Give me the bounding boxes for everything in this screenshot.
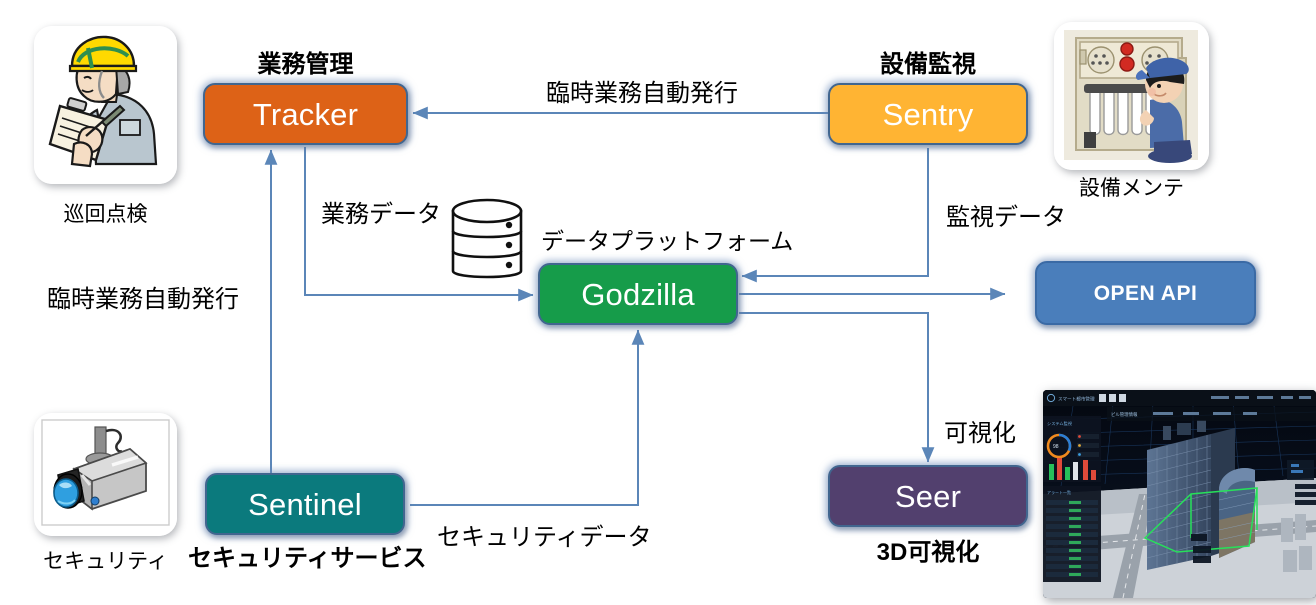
node-label-godzilla: Godzilla [581,279,695,310]
node-caption-sentry: 設備監視 [828,44,1028,79]
node-caption-seer: 3D可視化 [828,532,1028,567]
diagram-canvas: 巡回点検 セキュリティ [0,0,1316,605]
clipart-security-camera [34,413,177,536]
node-tracker[interactable]: Tracker [203,83,408,145]
node-label-sentry: Sentry [883,99,974,130]
node-caption-tracker: 業務管理 [203,44,408,79]
node-seer[interactable]: Seer [828,465,1028,527]
node-label-seer: Seer [895,481,961,512]
svg-text:アラート一覧: アラート一覧 [1047,489,1071,495]
node-sentinel[interactable]: Sentinel [205,473,405,535]
node-label-sentinel: Sentinel [248,489,362,520]
clipart-caption-equipment-maintenance: 設備メンテ [1054,172,1209,202]
edge-label-tracker-to-godzilla: 業務データ [321,194,441,229]
clipart-caption-security-camera: セキュリティ [34,545,177,575]
edge-label-sentry-to-godzilla: 監視データ [946,197,1066,232]
svg-text:98: 98 [1053,444,1059,450]
clipart-caption-patrol-inspection: 巡回点検 [34,198,177,228]
node-label-tracker: Tracker [253,99,358,130]
clipart-patrol-inspection [34,26,177,184]
node-godzilla[interactable]: Godzilla [538,263,738,325]
node-sentry[interactable]: Sentry [828,83,1028,145]
svg-text:スマート都市管理: スマート都市管理 [1058,396,1095,403]
screenshot-3d-visualization: システム監視 98 アラート一覧 [1043,390,1316,598]
node-caption-godzilla: データプラットフォーム [541,222,793,256]
node-open-api[interactable]: OPEN API [1035,261,1256,325]
edge-label-sentinel-to-tracker: 臨時業務自動発行 [47,279,239,314]
edge-label-sentinel-to-godzilla: セキュリティデータ [437,517,652,552]
node-caption-sentinel: セキュリティサービス [188,538,423,573]
svg-text:システム監視: システム監視 [1047,420,1073,427]
database-cylinder-icon [449,197,525,287]
svg-text:ビル管理情報: ビル管理情報 [1111,411,1138,418]
node-label-open-api: OPEN API [1094,283,1198,304]
edge-label-sentry-to-tracker: 臨時業務自動発行 [546,73,738,108]
edge-label-godzilla-to-seer: 可視化 [944,413,1016,448]
clipart-equipment-maintenance [1054,22,1209,170]
